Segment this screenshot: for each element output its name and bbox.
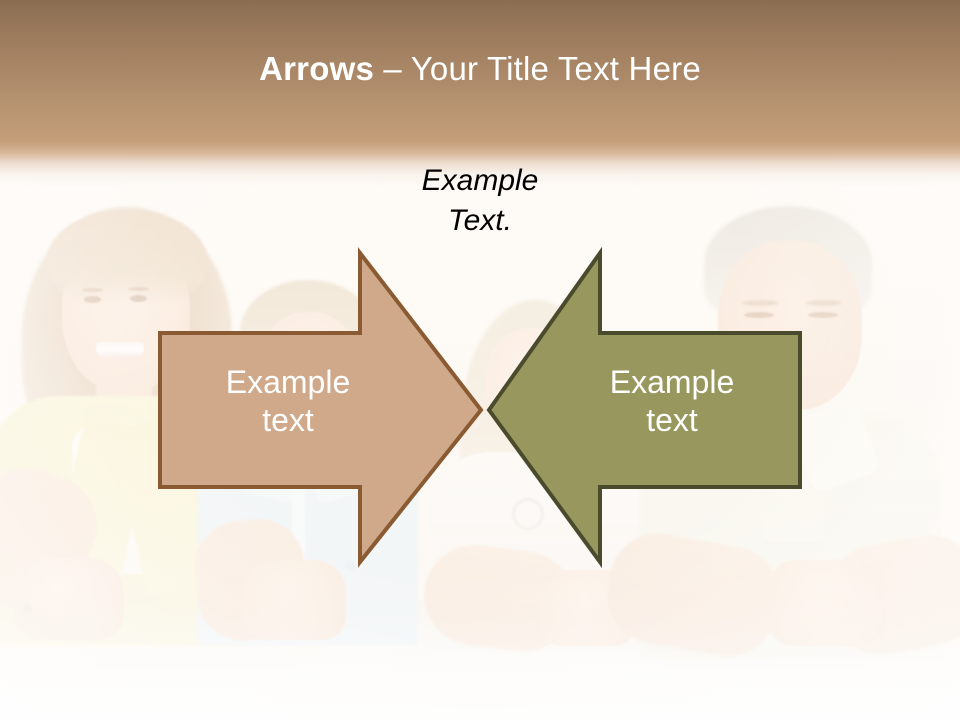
caption-example-text: Example Text.	[330, 161, 630, 241]
slide-canvas: Arrows – Your Title Text Here Example Te…	[0, 0, 960, 720]
caption-line-2: Text.	[330, 201, 630, 241]
arrow-diagram	[0, 0, 960, 720]
caption-line-1: Example	[330, 161, 630, 201]
left-arrow-shape[interactable]	[160, 253, 481, 562]
right-arrow-shape[interactable]	[489, 253, 800, 562]
